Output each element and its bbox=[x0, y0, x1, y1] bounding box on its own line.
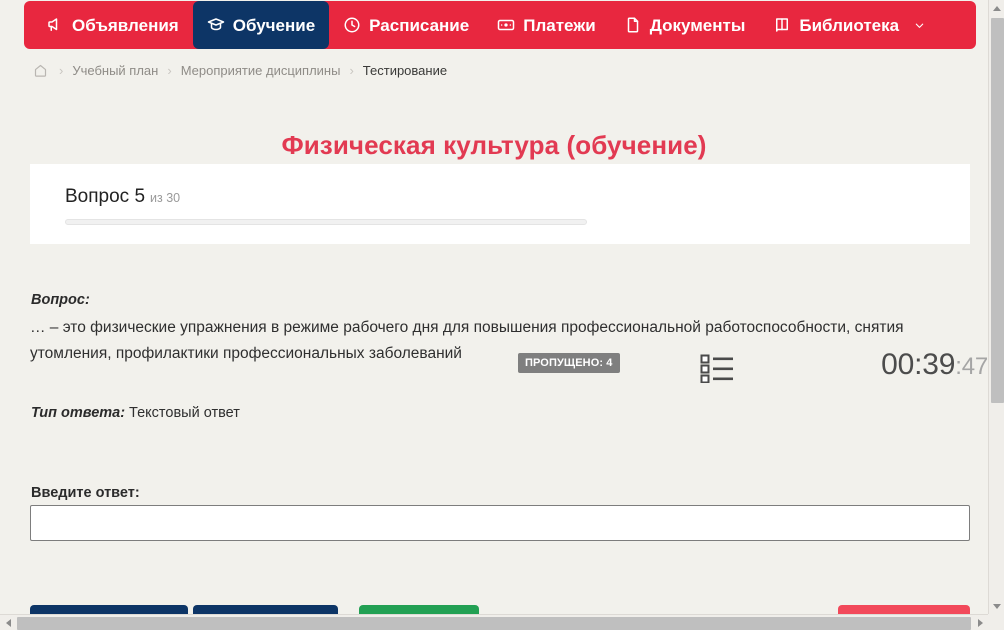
scroll-left-arrow-icon[interactable] bbox=[0, 615, 16, 630]
list-icon bbox=[700, 370, 734, 387]
scrollbar-corner bbox=[988, 614, 1004, 630]
scroll-right-arrow-icon[interactable] bbox=[972, 615, 988, 630]
breadcrumb: › Учебный план › Мероприятие дисциплины … bbox=[32, 62, 447, 78]
answer-type-value: Текстовый ответ bbox=[129, 405, 240, 421]
chevron-down-icon[interactable] bbox=[914, 20, 925, 31]
breadcrumb-separator-2: › bbox=[158, 64, 180, 77]
nav-label-library: Библиотека bbox=[799, 17, 899, 34]
scroll-down-arrow-icon[interactable] bbox=[989, 598, 1004, 614]
nav-label-payments: Платежи bbox=[523, 17, 596, 34]
megaphone-icon bbox=[46, 16, 64, 34]
nav-item-payments[interactable]: Платежи bbox=[483, 1, 610, 49]
nav-item-learning[interactable]: Обучение bbox=[193, 1, 329, 49]
browser-viewport: Объявления Обучение Ра bbox=[0, 0, 1004, 630]
finish-test-button[interactable]: Завершить тест bbox=[838, 605, 970, 614]
question-counter-total: из 30 bbox=[150, 191, 180, 205]
breadcrumb-item-discipline-event[interactable]: Мероприятие дисциплины bbox=[181, 63, 341, 78]
scroll-up-arrow-icon[interactable] bbox=[989, 0, 1004, 16]
main-navigation: Объявления Обучение Ра bbox=[24, 1, 976, 49]
nav-item-announcements[interactable]: Объявления bbox=[24, 1, 193, 49]
book-icon bbox=[773, 16, 791, 34]
nav-item-library[interactable]: Библиотека bbox=[759, 1, 939, 49]
home-icon[interactable] bbox=[32, 62, 48, 78]
breadcrumb-separator-1: › bbox=[50, 64, 72, 77]
nav-label-learning: Обучение bbox=[233, 17, 315, 34]
graduation-cap-icon bbox=[207, 16, 225, 34]
answer-input[interactable] bbox=[30, 505, 970, 541]
question-header-card: Вопрос 5из 30 ПРОПУЩЕНО: 4 bbox=[30, 164, 970, 244]
vertical-scrollbar[interactable] bbox=[988, 0, 1004, 614]
answer-type-row: Тип ответа:Текстовый ответ bbox=[31, 405, 240, 421]
next-question-button[interactable]: Следующий вопрос bbox=[193, 605, 338, 614]
save-answer-button[interactable]: Сохранить bbox=[359, 605, 479, 614]
banknote-icon bbox=[497, 16, 515, 34]
question-counter-block: Вопрос 5из 30 bbox=[65, 187, 590, 225]
answer-input-label: Введите ответ: bbox=[31, 485, 140, 501]
breadcrumb-separator-3: › bbox=[340, 64, 362, 77]
timer-seconds: 47 bbox=[962, 353, 988, 380]
page-title: Физическая культура (обучение) bbox=[0, 130, 988, 161]
nav-label-documents: Документы bbox=[650, 17, 746, 34]
breadcrumb-item-curriculum[interactable]: Учебный план bbox=[72, 63, 158, 78]
question-counter-label: Вопрос 5 bbox=[65, 186, 145, 207]
clock-icon bbox=[343, 16, 361, 34]
answer-type-label: Тип ответа: bbox=[31, 405, 125, 421]
nav-item-schedule[interactable]: Расписание bbox=[329, 1, 483, 49]
question-progress-bar bbox=[65, 219, 587, 225]
prev-question-button[interactable]: Предыдущий вопрос bbox=[30, 605, 188, 614]
nav-label-schedule: Расписание bbox=[369, 17, 469, 34]
file-icon bbox=[624, 16, 642, 34]
nav-label-announcements: Объявления bbox=[72, 17, 179, 34]
vertical-scrollbar-thumb[interactable] bbox=[991, 18, 1004, 403]
breadcrumb-item-testing: Тестирование bbox=[363, 63, 447, 78]
horizontal-scrollbar-thumb[interactable] bbox=[17, 617, 971, 630]
question-counter: Вопрос 5из 30 bbox=[65, 187, 590, 208]
nav-item-documents[interactable]: Документы bbox=[610, 1, 760, 49]
page-content: Объявления Обучение Ра bbox=[0, 0, 988, 614]
question-label: Вопрос: bbox=[31, 292, 90, 308]
question-text: … – это физические упражнения в режиме р… bbox=[30, 315, 955, 367]
horizontal-scrollbar[interactable] bbox=[0, 614, 1004, 630]
